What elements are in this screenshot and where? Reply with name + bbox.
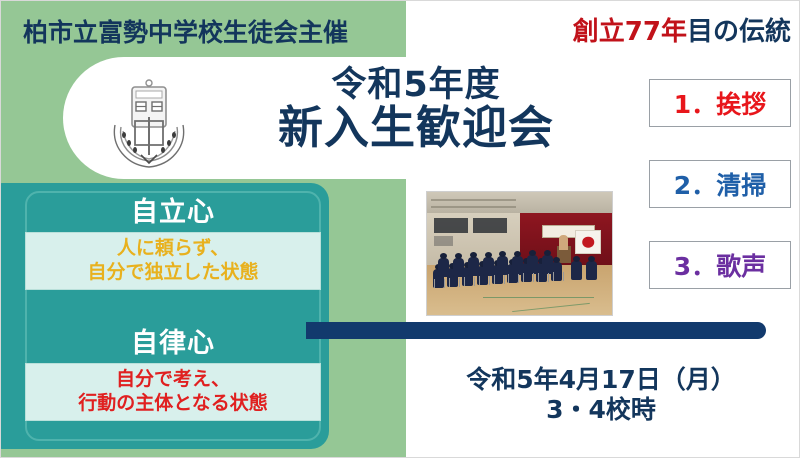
event-date: 令和5年4月17日（月） xyxy=(411,365,791,395)
organizer-heading: 柏市立富勢中学校生徒会主催 xyxy=(23,13,348,49)
title-main: 新入生歓迎会 xyxy=(216,104,616,153)
school-crest-icon xyxy=(93,69,205,173)
concept-description-line-1: 自分で考え、 xyxy=(28,368,318,391)
title-era: 令和5年度 xyxy=(216,67,616,104)
photo-scene xyxy=(427,192,612,315)
concept-description-line-1: 人に頼らず、 xyxy=(28,237,318,260)
event-date-block: 令和5年4月17日（月） 3・4校時 xyxy=(411,365,791,424)
concept-description: 自分で考え、 行動の主体となる状態 xyxy=(25,363,321,420)
photo-window xyxy=(473,218,506,233)
slide-title-block: 令和5年度 新入生歓迎会 xyxy=(216,67,616,153)
concept-jiritsushin-selfdiscipline: 自律心 自分で考え、 行動の主体となる状態 xyxy=(25,328,321,421)
photo-beam xyxy=(431,206,516,208)
concept-heading: 自律心 xyxy=(25,328,321,360)
photo-window xyxy=(434,236,453,246)
photo-window xyxy=(434,218,467,233)
photo-seated-students xyxy=(427,249,612,298)
tradition-heading: 創立77年目の伝統 xyxy=(573,11,791,48)
concept-description-line-2: 行動の主体となる状態 xyxy=(28,392,318,415)
ceremony-photo xyxy=(426,191,613,316)
tradition-highlight: 創立77年 xyxy=(573,17,687,47)
concept-heading: 自立心 xyxy=(25,197,321,229)
photo-beam xyxy=(431,199,516,201)
agenda-item-2[interactable]: 2．清掃 xyxy=(649,160,791,208)
event-period: 3・4校時 xyxy=(411,395,791,425)
concept-jiritsushin-independence: 自立心 人に頼らず、 自分で独立した状態 xyxy=(25,197,321,290)
photo-ceiling xyxy=(427,192,612,213)
agenda-item-3[interactable]: 3．歌声 xyxy=(649,241,791,289)
concept-description-line-2: 自分で独立した状態 xyxy=(28,261,318,284)
agenda-item-1[interactable]: 1．挨拶 xyxy=(649,79,791,127)
concept-description: 人に頼らず、 自分で独立した状態 xyxy=(25,232,321,289)
tradition-rest: 目の伝統 xyxy=(687,17,791,47)
presentation-slide: 柏市立富勢中学校生徒会主催 創立77年目の伝統 xyxy=(0,0,800,458)
navy-divider-bar xyxy=(306,322,766,339)
